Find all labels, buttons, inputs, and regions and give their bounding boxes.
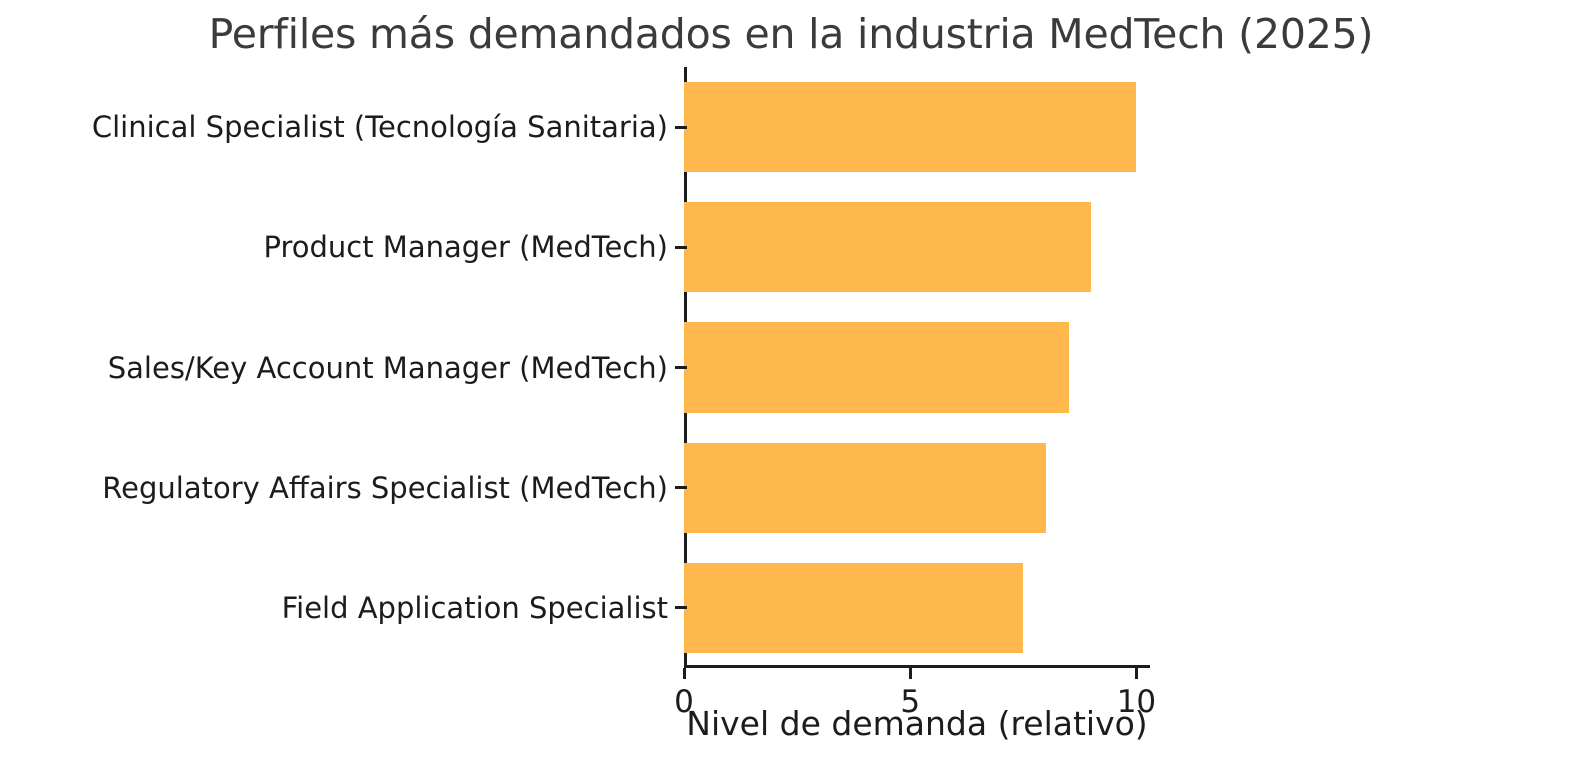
y-axis-tick-label: Field Application Specialist [282, 591, 668, 625]
x-axis-label: Nivel de demanda (relativo) [684, 703, 1150, 745]
chart-title: Perfiles más demandados en la industria … [0, 8, 1582, 60]
y-axis-tick [675, 366, 687, 369]
bar [684, 322, 1069, 412]
y-axis-tick-label: Product Manager (MedTech) [263, 230, 668, 264]
y-axis-tick [675, 246, 687, 249]
y-axis-tick [675, 486, 687, 489]
bar-chart-figure: Perfiles más demandados en la industria … [0, 0, 1582, 776]
bar [684, 443, 1046, 533]
plot-area: 0510 [684, 67, 1150, 668]
x-axis-tick [909, 668, 912, 679]
y-axis-tick-label: Sales/Key Account Manager (MedTech) [108, 351, 668, 385]
y-axis-tick-labels: Clinical Specialist (Tecnología Sanitari… [0, 67, 676, 668]
y-axis-tick-label: Regulatory Affairs Specialist (MedTech) [102, 471, 668, 505]
bar [684, 202, 1091, 292]
y-axis-tick [675, 606, 687, 609]
y-axis-tick [675, 126, 687, 129]
x-axis-tick [683, 668, 686, 679]
x-axis-spine [684, 665, 1150, 668]
y-axis-tick-label: Clinical Specialist (Tecnología Sanitari… [92, 110, 668, 144]
bar [684, 563, 1023, 653]
bar [684, 82, 1136, 172]
x-axis-tick [1135, 668, 1138, 679]
